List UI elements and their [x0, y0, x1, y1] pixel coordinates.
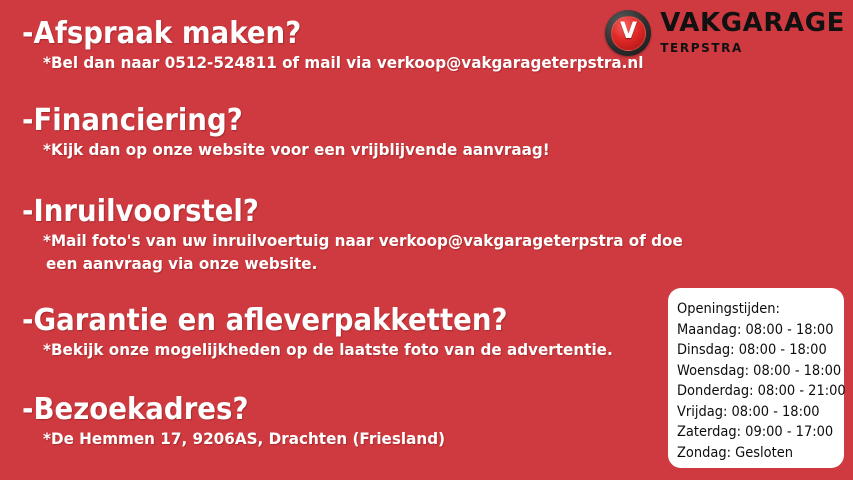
logo-dealer-name: TERPSTRA — [660, 39, 845, 56]
opening-hours-row: Zondag: Gesloten — [677, 443, 832, 464]
opening-hours-row: Woensdag: 08:00 - 18:00 — [677, 361, 832, 382]
opening-hours-title: Openingstijden: — [677, 299, 832, 320]
opening-hours-row: Zaterdag: 09:00 - 17:00 — [677, 422, 832, 443]
opening-hours-row: Maandag: 08:00 - 18:00 — [677, 320, 832, 341]
section-detail-line: *Bel dan naar 0512-524811 of mail via ve… — [43, 53, 643, 73]
section-garantie: -Garantie en afleverpakketten? *Bekijk o… — [22, 305, 643, 360]
opening-hours-card: Openingstijden: Maandag: 08:00 - 18:00 D… — [668, 288, 844, 468]
section-heading: -Financiering? — [22, 105, 532, 137]
logo-brand-name: VAKGARAGE — [660, 10, 845, 36]
section-financiering: -Financiering? *Kijk dan op onze website… — [22, 105, 576, 160]
section-detail-line: een aanvraag via onze website. — [46, 254, 683, 274]
section-detail-line: *Bekijk onze mogelijkheden op de laatste… — [43, 340, 613, 360]
section-heading: -Bezoekadres? — [22, 394, 431, 426]
section-detail-line: *Mail foto's van uw inruilvoertuig naar … — [43, 231, 683, 251]
advertisement-banner: V VAKGARAGE TERPSTRA -Afspraak maken? *B… — [0, 0, 853, 480]
section-afspraak: -Afspraak maken? *Bel dan naar 0512-5248… — [22, 18, 675, 73]
section-heading: -Inruilvoorstel? — [22, 196, 661, 228]
opening-hours-row: Vrijdag: 08:00 - 18:00 — [677, 402, 832, 423]
section-inruilvoorstel: -Inruilvoorstel? *Mail foto's van uw inr… — [22, 196, 716, 274]
opening-hours-row: Dinsdag: 08:00 - 18:00 — [677, 340, 832, 361]
logo-wordmark: VAKGARAGE TERPSTRA — [660, 10, 845, 56]
section-detail-line: *De Hemmen 17, 9206AS, Drachten (Friesla… — [43, 429, 445, 449]
section-heading: -Garantie en afleverpakketten? — [22, 305, 593, 337]
section-detail-line: *Kijk dan op onze website voor een vrijb… — [43, 140, 550, 160]
opening-hours-row: Donderdag: 08:00 - 21:00 — [677, 381, 832, 402]
section-heading: -Afspraak maken? — [22, 18, 623, 50]
section-bezoekadres: -Bezoekadres? *De Hemmen 17, 9206AS, Dra… — [22, 394, 466, 449]
